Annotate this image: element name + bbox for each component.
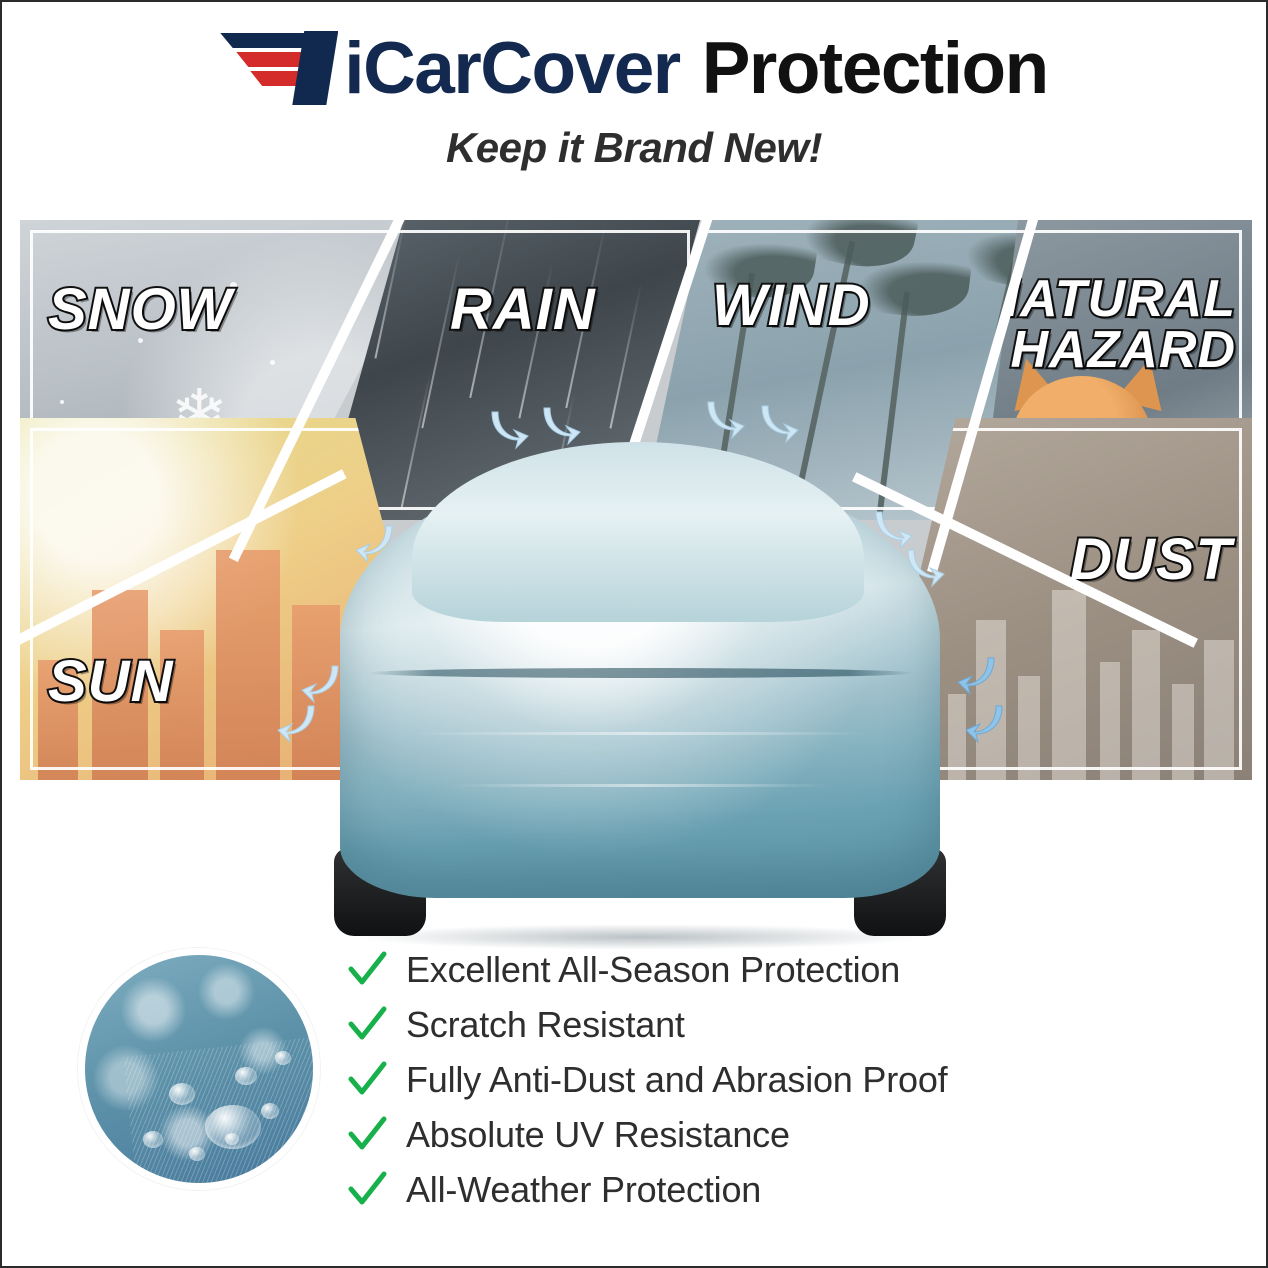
covered-car (320, 432, 960, 942)
check-icon (346, 1059, 388, 1101)
deflection-arrow-icon (900, 546, 946, 590)
brand-headline: iCarCover Protection (2, 20, 1266, 116)
deflection-arrow-icon (484, 408, 530, 452)
feature-label: Fully Anti-Dust and Abrasion Proof (406, 1059, 947, 1101)
panel-label-rain: RAIN (450, 282, 596, 339)
header: iCarCover Protection Keep it Brand New! (2, 20, 1266, 172)
check-icon (346, 1004, 388, 1046)
panel-label-dust: DUST (1070, 532, 1232, 589)
deflection-arrow-icon (300, 662, 346, 706)
list-item: All-Weather Protection (346, 1162, 1146, 1217)
panel-label-wind: WIND (712, 278, 871, 335)
list-item: Excellent All-Season Protection (346, 942, 1146, 997)
feature-list: Excellent All-Season Protection Scratch … (346, 942, 1146, 1217)
icarcover-wing-logo-icon (220, 31, 338, 105)
list-item: Scratch Resistant (346, 997, 1146, 1052)
feature-label: Excellent All-Season Protection (406, 949, 900, 991)
deflection-arrow-icon (536, 404, 582, 448)
feature-label: Absolute UV Resistance (406, 1114, 790, 1156)
panel-label-sun: SUN (48, 654, 173, 711)
water-beading-fabric-swatch-icon (78, 948, 320, 1190)
panel-label-snow: SNOW (48, 282, 232, 339)
deflection-arrow-icon (354, 522, 400, 566)
product-infographic: iCarCover Protection Keep it Brand New! … (0, 0, 1268, 1268)
brand-name: iCarCover (344, 32, 679, 105)
list-item: Absolute UV Resistance (346, 1107, 1146, 1162)
deflection-arrow-icon (700, 398, 746, 442)
deflection-arrow-icon (964, 702, 1010, 746)
panel-label-natural-hazard: NATURAL HAZARD (982, 274, 1236, 376)
tagline: Keep it Brand New! (2, 124, 1266, 172)
headline-suffix: Protection (702, 32, 1048, 105)
deflection-arrow-icon (754, 402, 800, 446)
list-item: Fully Anti-Dust and Abrasion Proof (346, 1052, 1146, 1107)
check-icon (346, 949, 388, 991)
benefits-section: Excellent All-Season Protection Scratch … (2, 930, 1266, 1250)
deflection-arrow-icon (956, 654, 1002, 698)
feature-label: All-Weather Protection (406, 1169, 761, 1211)
feature-label: Scratch Resistant (406, 1004, 685, 1046)
check-icon (346, 1114, 388, 1156)
deflection-arrow-icon (276, 702, 322, 746)
check-icon (346, 1169, 388, 1211)
